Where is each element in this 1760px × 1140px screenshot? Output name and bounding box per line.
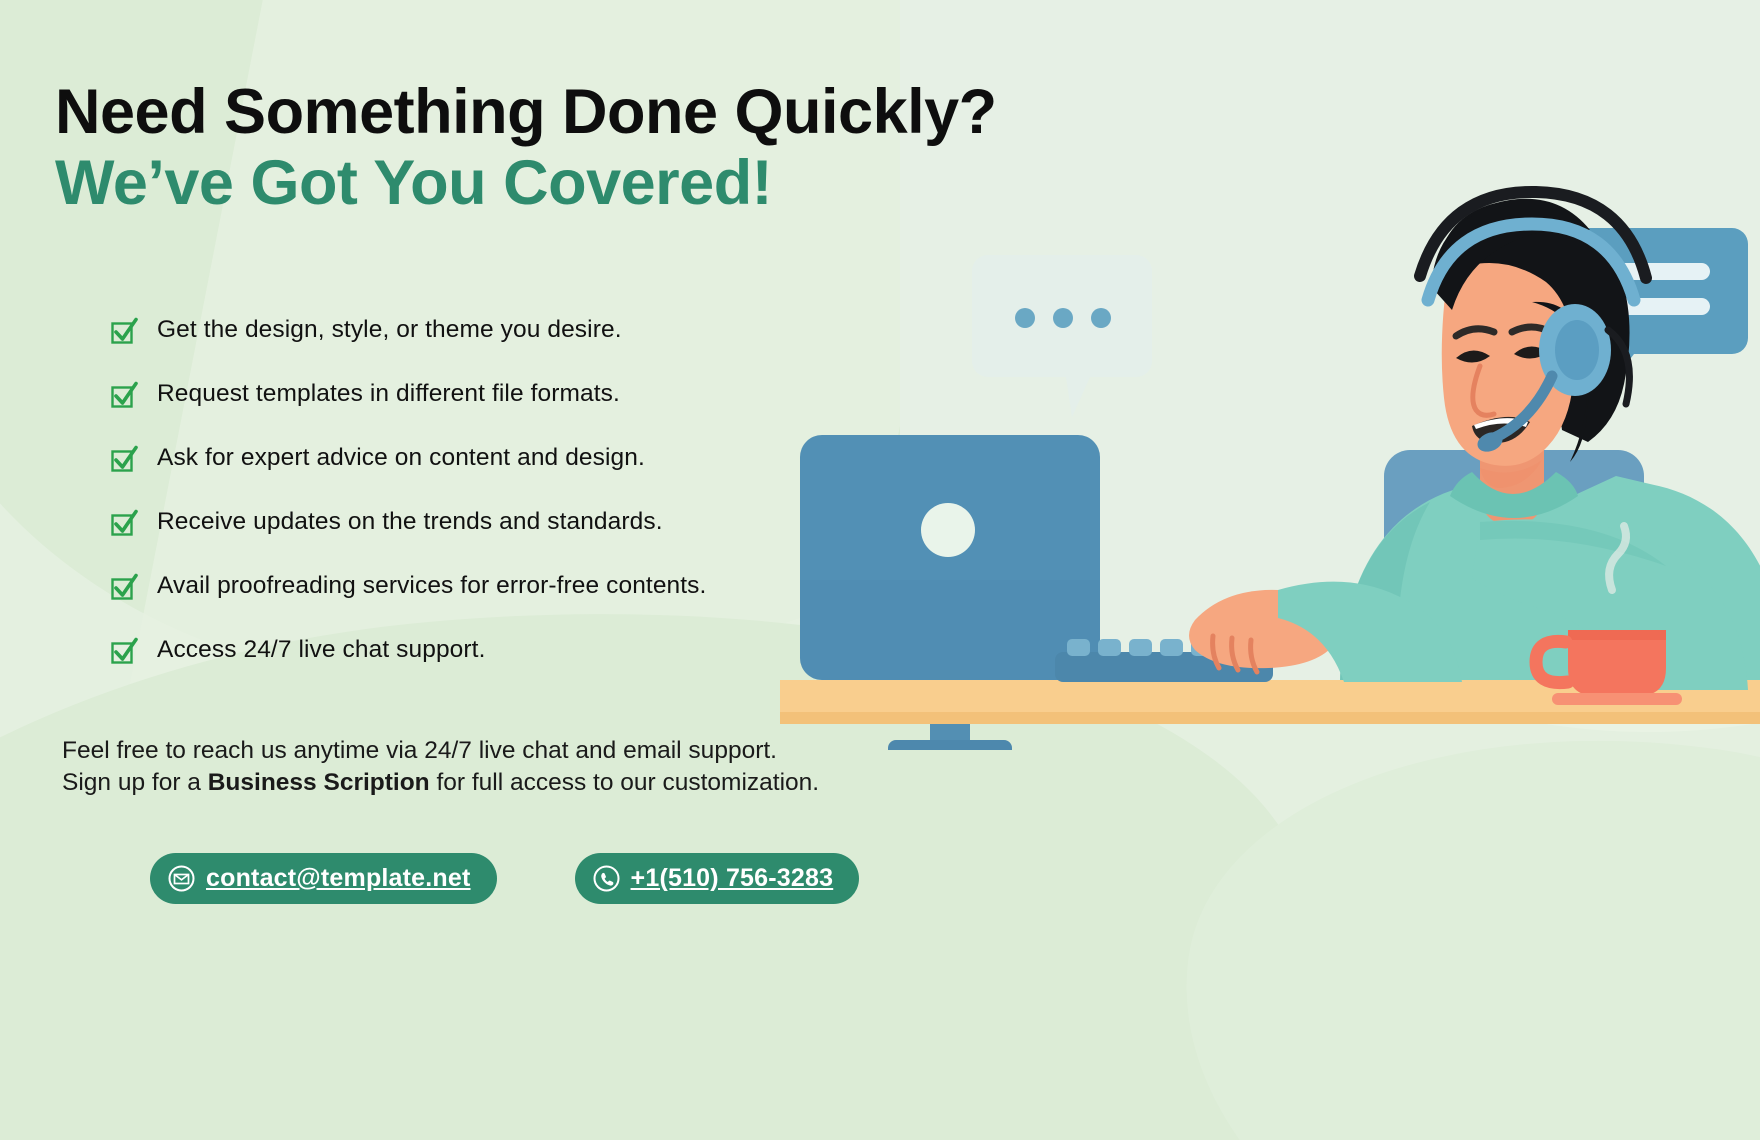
phone-icon bbox=[593, 865, 620, 892]
promo-poster: Need Something Done Quickly? We’ve Got Y… bbox=[0, 0, 1760, 1140]
headline-primary: Need Something Done Quickly? bbox=[55, 78, 997, 146]
blurb-line-2: Sign up for a Business Scription for ful… bbox=[62, 767, 819, 799]
phone-contact-label: +1(510) 756-3283 bbox=[631, 864, 834, 893]
headline-block: Need Something Done Quickly? We’ve Got Y… bbox=[55, 78, 997, 222]
blurb-line2-prefix: Sign up for a bbox=[62, 769, 208, 796]
typing-bubble-icon bbox=[972, 255, 1152, 417]
email-contact-button[interactable]: contact@template.net bbox=[150, 853, 497, 904]
checkbox-check-icon bbox=[110, 509, 138, 537]
list-item: Get the design, style, or theme you desi… bbox=[110, 298, 840, 362]
support-agent-illustration bbox=[780, 150, 1760, 750]
blurb-plan-name: Business Scription bbox=[208, 769, 430, 796]
feature-list: Get the design, style, or theme you desi… bbox=[110, 298, 840, 682]
list-item-label: Get the design, style, or theme you desi… bbox=[157, 316, 622, 344]
checkbox-check-icon bbox=[110, 573, 138, 601]
checkbox-check-icon bbox=[110, 637, 138, 665]
list-item-label: Access 24/7 live chat support. bbox=[157, 636, 485, 664]
envelope-icon bbox=[168, 865, 195, 892]
email-contact-label: contact@template.net bbox=[206, 864, 471, 893]
list-item: Receive updates on the trends and standa… bbox=[110, 490, 840, 554]
list-item: Access 24/7 live chat support. bbox=[110, 618, 840, 682]
contact-row: contact@template.net +1(510) 756-3283 bbox=[150, 853, 859, 904]
headline-secondary: We’ve Got You Covered! bbox=[55, 146, 997, 222]
phone-contact-button[interactable]: +1(510) 756-3283 bbox=[575, 853, 860, 904]
checkbox-check-icon bbox=[110, 381, 138, 409]
blurb-line-1: Feel free to reach us anytime via 24/7 l… bbox=[62, 735, 819, 767]
list-item: Avail proofreading services for error-fr… bbox=[110, 554, 840, 618]
list-item: Request templates in different file form… bbox=[110, 362, 840, 426]
list-item-label: Receive updates on the trends and standa… bbox=[157, 508, 663, 536]
checkbox-check-icon bbox=[110, 317, 138, 345]
list-item-label: Avail proofreading services for error-fr… bbox=[157, 572, 706, 600]
list-item-label: Request templates in different file form… bbox=[157, 380, 620, 408]
list-item-label: Ask for expert advice on content and des… bbox=[157, 444, 645, 472]
blurb-line2-suffix: for full access to our customization. bbox=[430, 769, 819, 796]
support-blurb: Feel free to reach us anytime via 24/7 l… bbox=[62, 735, 819, 800]
checkbox-check-icon bbox=[110, 445, 138, 473]
list-item: Ask for expert advice on content and des… bbox=[110, 426, 840, 490]
